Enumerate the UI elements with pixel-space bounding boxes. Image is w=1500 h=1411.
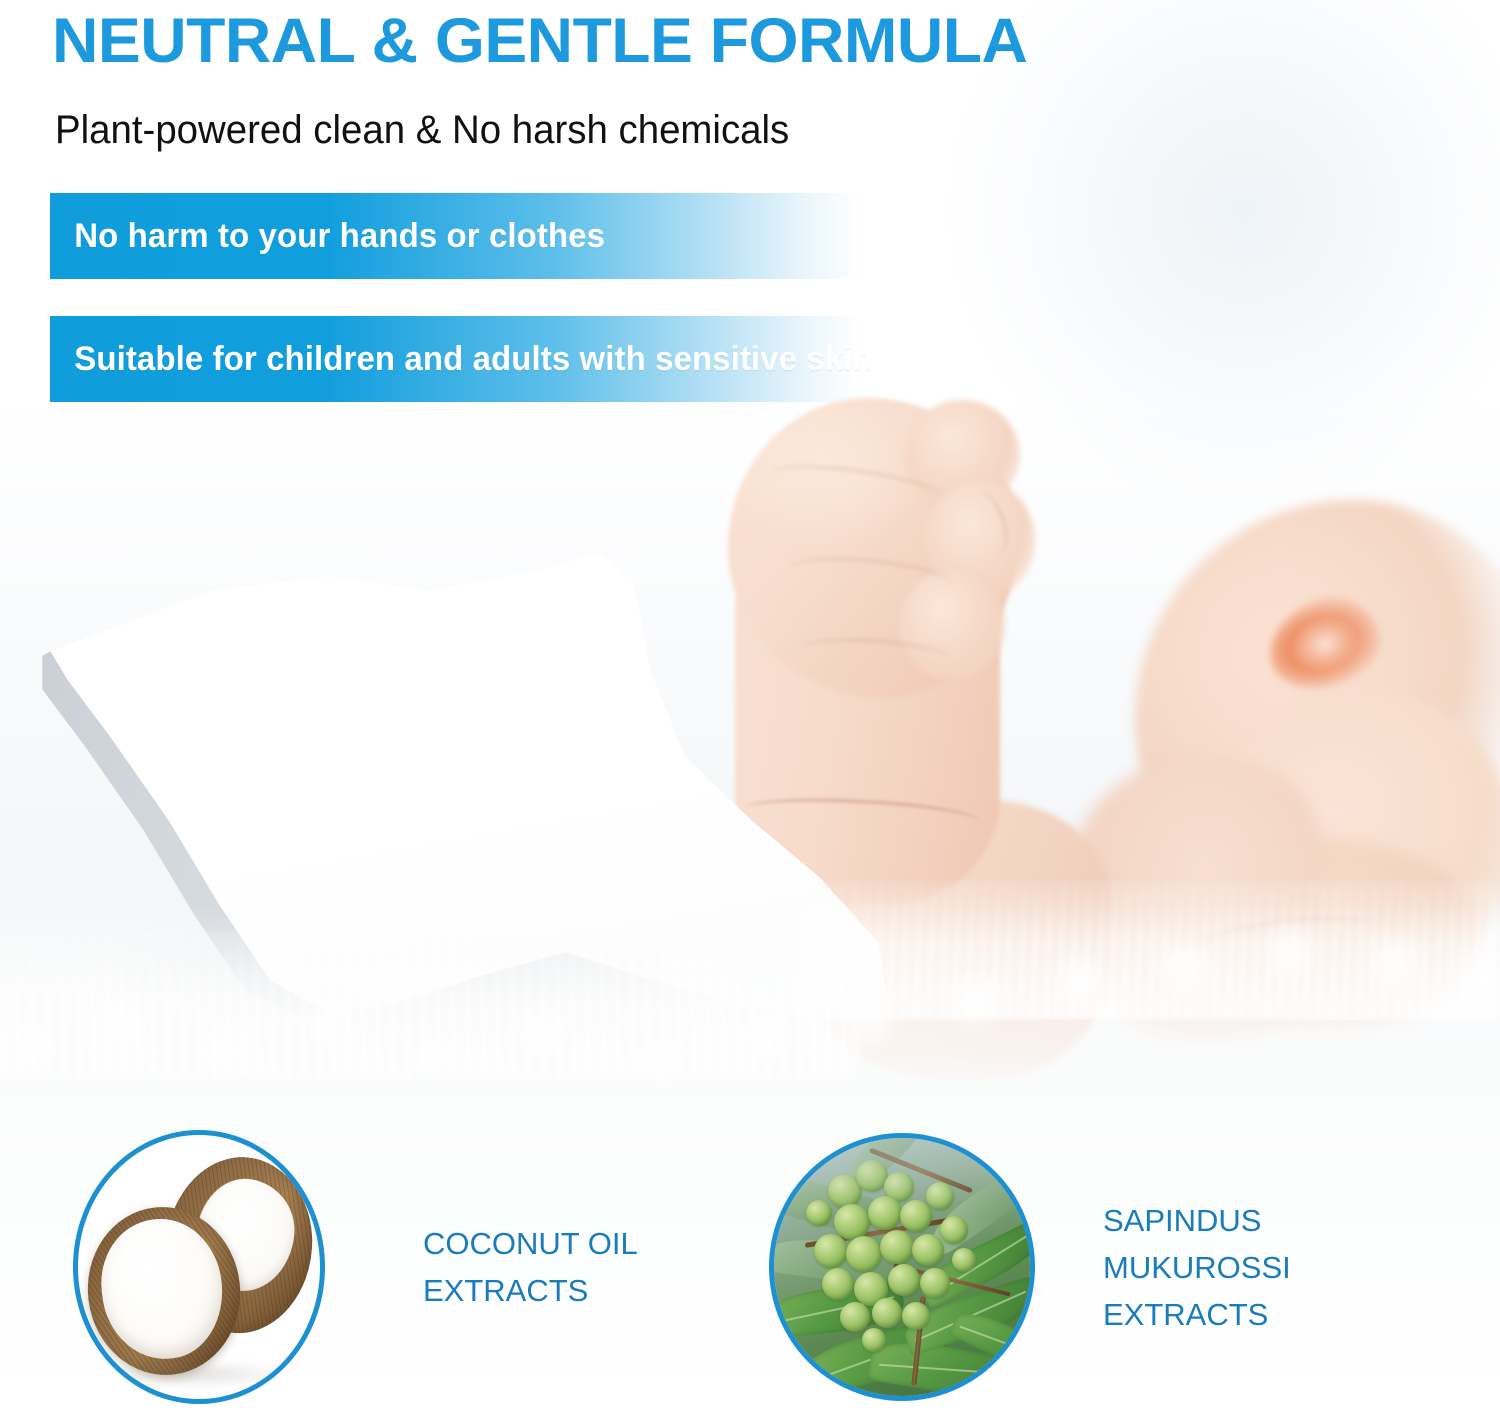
sapindus-berry: [926, 1182, 954, 1210]
ingredient-coconut-label: COCONUT OIL EXTRACTS: [423, 1220, 638, 1314]
sapindus-berries-icon: [769, 1133, 1035, 1401]
coconut-icon: [73, 1130, 325, 1404]
sapindus-berry: [952, 1248, 976, 1272]
feature-banner-2: Suitable for children and adults with se…: [50, 316, 860, 402]
sapindus-berry: [846, 1236, 882, 1272]
feature-banner-1: No harm to your hands or clothes: [50, 193, 860, 279]
feature-banner-2-text: Suitable for children and adults with se…: [50, 340, 873, 379]
sapindus-berry: [940, 1216, 968, 1244]
sapindus-berry: [840, 1302, 870, 1332]
sapindus-berry: [862, 1328, 886, 1352]
sapindus-berry: [822, 1268, 854, 1300]
fluffy-blanket-fringe-right: [800, 880, 1500, 1020]
ingredient-sapindus-label-line1: SAPINDUS: [1103, 1197, 1291, 1244]
page-title: NEUTRAL & GENTLE FORMULA: [52, 6, 1027, 76]
sapindus-berry: [834, 1204, 870, 1240]
ingredient-sapindus-label: SAPINDUS MUKUROSSI EXTRACTS: [1103, 1197, 1291, 1338]
sapindus-berry: [814, 1234, 848, 1268]
ingredient-sapindus: SAPINDUS MUKUROSSI EXTRACTS: [769, 1133, 1291, 1401]
coconut-shadow: [100, 1361, 290, 1387]
ingredient-coconut: COCONUT OIL EXTRACTS: [73, 1130, 638, 1404]
sapindus-berry: [880, 1230, 914, 1264]
feature-banner-1-text: No harm to your hands or clothes: [50, 217, 605, 256]
ingredient-coconut-label-line1: COCONUT OIL: [423, 1220, 638, 1267]
sapindus-berry: [888, 1264, 920, 1296]
sapindus-berry: [912, 1234, 944, 1266]
sapindus-berry: [900, 1200, 932, 1232]
page-subtitle: Plant-powered clean & No harsh chemicals: [55, 106, 789, 154]
ingredient-coconut-label-line2: EXTRACTS: [423, 1267, 638, 1314]
sapindus-berry: [806, 1200, 832, 1226]
product-feature-banner: NEUTRAL & GENTLE FORMULA Plant-powered c…: [0, 0, 1500, 1411]
ingredient-sapindus-label-line3: EXTRACTS: [1103, 1291, 1291, 1338]
sapindus-berry: [902, 1302, 930, 1330]
ingredient-sapindus-label-line2: MUKUROSSI: [1103, 1244, 1291, 1291]
sapindus-berry: [872, 1298, 902, 1328]
sapindus-berry: [920, 1268, 950, 1298]
sapindus-berry: [868, 1196, 902, 1230]
